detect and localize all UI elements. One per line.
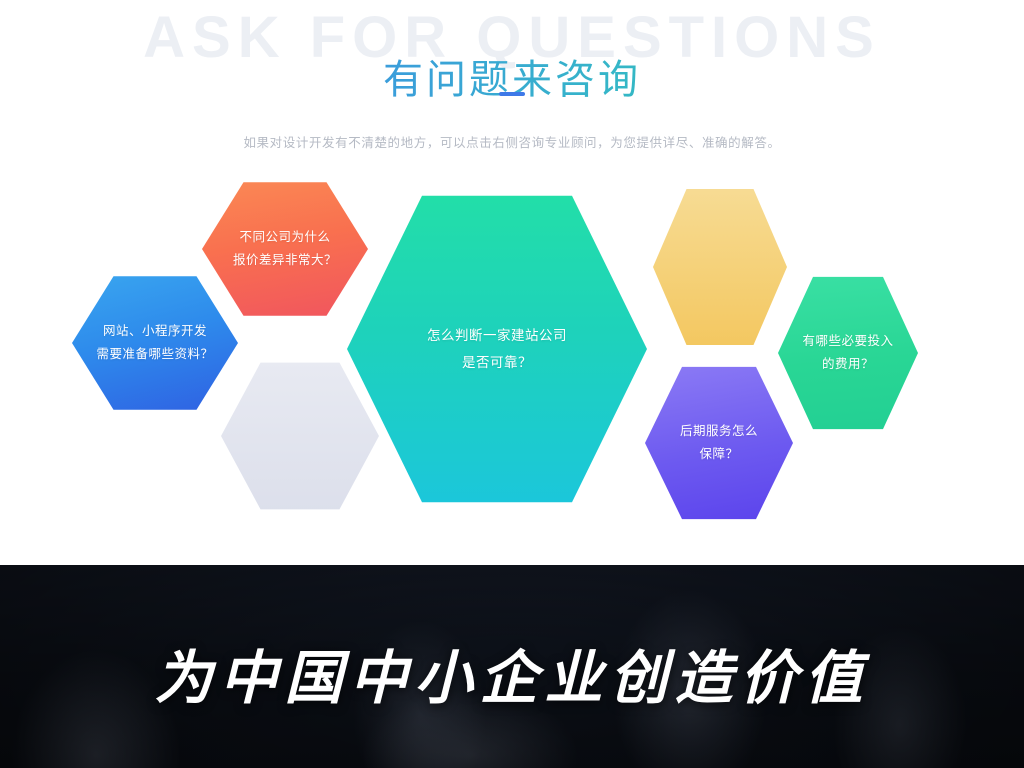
faq-hexagon-label: 有哪些必要投入 的费用？ [783,330,913,376]
faq-hexagon-decorative-yellow [653,184,787,350]
faq-hexagon-costs[interactable]: 有哪些必要投入 的费用？ [778,272,918,434]
faq-hexagon-label: 网站、小程序开发 需要准备哪些资料？ [73,320,236,366]
banner-slogan-text: 为中国中小企业创造价值 [0,571,1024,768]
slogan-banner: 为中国中小企业创造价值 [0,565,1024,768]
faq-hexagon-aftersales[interactable]: 后期服务怎么 保障？ [645,362,793,524]
faq-section: ASK FOR QUESTIONS 有问题来咨询 如果对设计开发有不清楚的地方，… [0,0,1024,565]
page-root: ASK FOR QUESTIONS 有问题来咨询 如果对设计开发有不清楚的地方，… [0,0,1024,768]
faq-hexagon-materials[interactable]: 网站、小程序开发 需要准备哪些资料？ [72,272,238,414]
faq-hexagon-decorative-gray [221,358,379,514]
faq-hexagon-label: 后期服务怎么 保障？ [659,420,778,466]
hexagon-cluster: 网站、小程序开发 需要准备哪些资料？ 不同公司为什么 报价差异非常大？ 怎么判断… [0,0,1024,565]
faq-hexagon-pricing[interactable]: 不同公司为什么 报价差异非常大？ [202,178,368,320]
faq-hexagon-label: 不同公司为什么 报价差异非常大？ [210,226,360,272]
faq-hexagon-label: 怎么判断一家建站公司 是否可靠？ [385,322,609,376]
faq-hexagon-reliability[interactable]: 怎么判断一家建站公司 是否可靠？ [347,186,647,512]
